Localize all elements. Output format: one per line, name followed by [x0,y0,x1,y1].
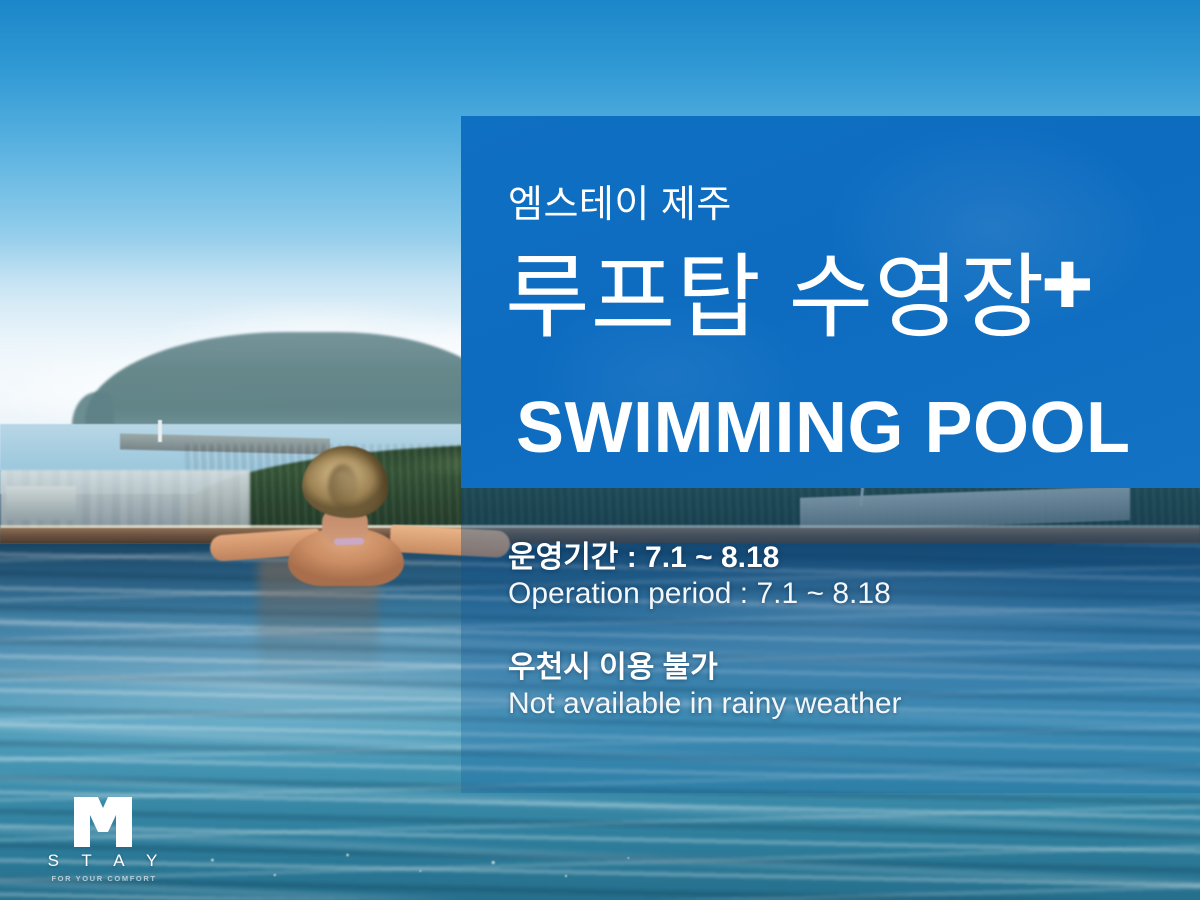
promo-poster: 엠스테이 제주 루프탑 수영장✚ SWIMMING POOL 운영기간 : 7.… [0,0,1200,900]
swimsuit-strap [334,537,364,545]
logo-wordmark: S T A Y [38,851,168,871]
headline-korean: 루프탑 수영장✚ [505,252,1094,346]
headline-english: SWIMMING POOL [516,392,1130,464]
plus-icon: ✚ [1041,252,1094,321]
info-block: 운영기간 : 7.1 ~ 8.18 Operation period : 7.1… [508,540,1128,760]
info-group-rain-notice: 우천시 이용 불가 Not available in rainy weather [508,650,1128,724]
water-bubbles [150,840,670,890]
m-logo-icon [38,797,168,847]
town-building [6,486,76,520]
brand-kicker: 엠스테이 제주 [508,186,732,224]
pier-post [158,420,162,442]
operation-period-en: Operation period : 7.1 ~ 8.18 [508,575,1128,613]
hair-strand [328,464,358,508]
operation-period-ko: 운영기간 : 7.1 ~ 8.18 [508,540,1128,575]
brand-logo: S T A Y FOR YOUR COMFORT [38,797,168,883]
rain-notice-ko: 우천시 이용 불가 [508,650,1128,685]
headline-korean-text: 루프탑 수영장 [505,247,1045,349]
info-group-operation-period: 운영기간 : 7.1 ~ 8.18 Operation period : 7.1… [508,540,1128,614]
logo-tagline: FOR YOUR COMFORT [38,874,168,883]
rain-notice-en: Not available in rainy weather [508,685,1128,723]
